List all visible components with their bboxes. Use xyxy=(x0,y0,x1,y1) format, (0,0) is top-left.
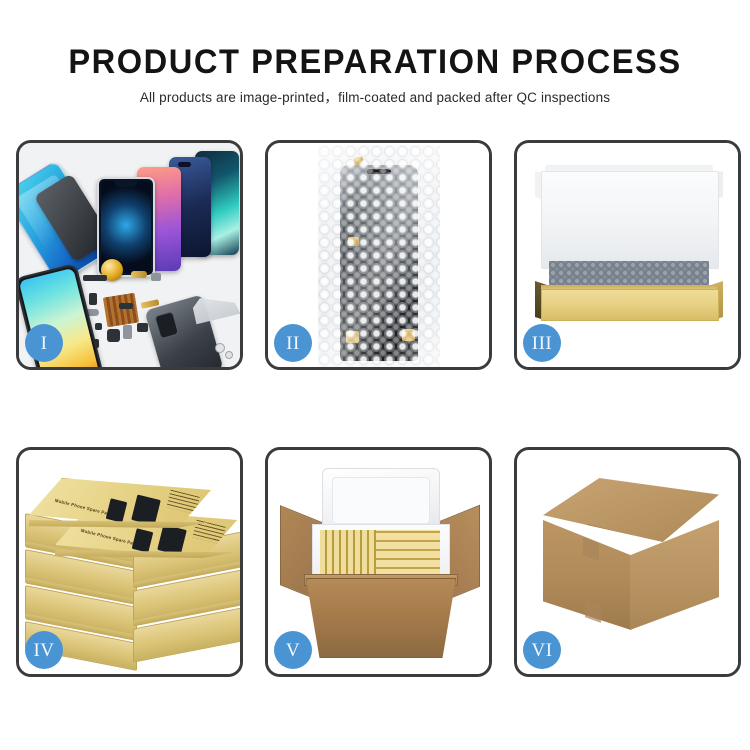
process-step-panel-2[interactable]: II xyxy=(265,140,492,370)
page-subtitle: All products are image-printed，film-coat… xyxy=(0,91,750,105)
box-brand-label: Mobile Phone Spare Parts xyxy=(80,528,140,547)
bubble-wrap-bag xyxy=(318,145,440,367)
chip-board-part xyxy=(103,293,139,328)
spare-part xyxy=(151,273,161,281)
spare-part xyxy=(83,275,107,281)
spare-part xyxy=(131,271,147,278)
spare-part xyxy=(89,293,97,305)
process-step-panel-6[interactable]: VI xyxy=(514,447,741,677)
step-numeral-5: V xyxy=(286,641,300,660)
plastic-sheen xyxy=(318,145,440,367)
step-badge-5: V xyxy=(274,631,312,669)
step-numeral-4: IV xyxy=(33,641,54,660)
step-badge-3: III xyxy=(523,324,561,362)
step-numeral-6: VI xyxy=(531,641,552,660)
process-step-grid: I II xyxy=(16,140,742,677)
box-window-graphic xyxy=(106,498,128,522)
process-step-panel-3[interactable]: III xyxy=(514,140,741,370)
step-5-image: V xyxy=(268,450,489,674)
process-step-panel-1[interactable]: I xyxy=(16,140,243,370)
spare-part xyxy=(215,343,225,353)
step-1-image: I xyxy=(19,143,240,367)
step-2-image: II xyxy=(268,143,489,367)
box-text-lines xyxy=(166,490,199,515)
step-numeral-3: III xyxy=(532,334,552,353)
spare-part xyxy=(225,351,233,359)
step-badge-4: IV xyxy=(25,631,63,669)
process-step-panel-4[interactable]: Mobile Phone Spare Parts Mobile Phone Sp… xyxy=(16,447,243,677)
carton-body xyxy=(306,578,456,658)
spare-part xyxy=(107,329,120,342)
page-title: PRODUCT PREPARATION PROCESS xyxy=(15,45,735,79)
spare-part xyxy=(119,303,133,309)
box-window-graphic xyxy=(131,494,161,525)
spare-part xyxy=(123,325,132,339)
step-badge-6: VI xyxy=(523,631,561,669)
process-step-panel-5[interactable]: V xyxy=(265,447,492,677)
box-stack: Mobile Phone Spare Parts Mobile Phone Sp… xyxy=(21,464,240,662)
step-badge-2: II xyxy=(274,324,312,362)
step-3-image: III xyxy=(517,143,738,367)
box-white-lid xyxy=(541,171,719,269)
spare-part xyxy=(137,323,148,332)
packed-product-boxes xyxy=(320,530,440,576)
step-numeral-2: II xyxy=(286,334,300,353)
product-boxes-row-right xyxy=(376,530,440,576)
step-4-image: Mobile Phone Spare Parts Mobile Phone Sp… xyxy=(19,450,240,674)
box-window-graphic xyxy=(132,528,154,552)
product-preparation-process-page: PRODUCT PREPARATION PROCESS All products… xyxy=(0,0,750,750)
step-6-image: VI xyxy=(517,450,738,674)
spare-part xyxy=(95,323,102,330)
box-window-graphic xyxy=(157,524,187,555)
product-boxes-row-left xyxy=(320,530,376,576)
step-badge-1: I xyxy=(25,324,63,362)
box-brand-label: Mobile Phone Spare Parts xyxy=(54,498,114,517)
box-yellow-front xyxy=(541,289,719,321)
step-numeral-1: I xyxy=(41,334,48,353)
